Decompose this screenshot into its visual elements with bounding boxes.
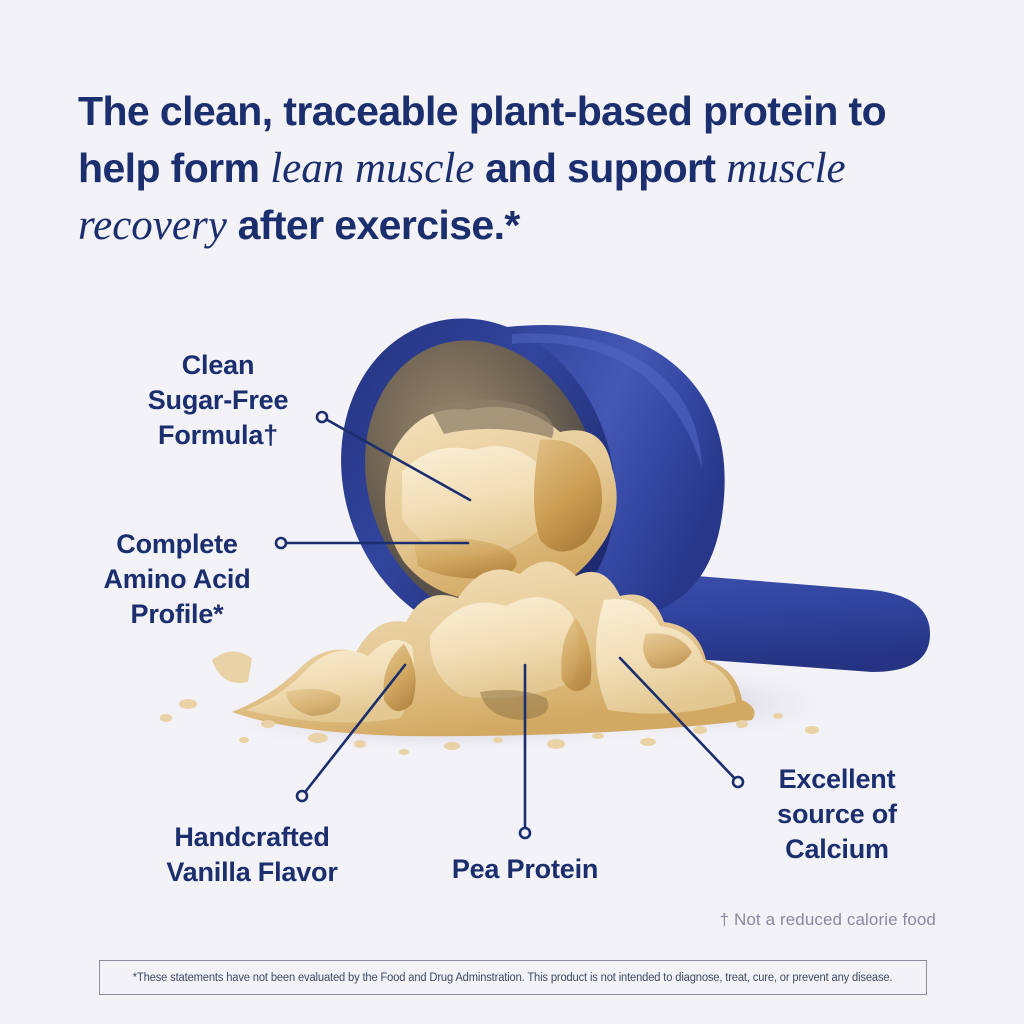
marker-excellent-source-of-calcium xyxy=(733,777,743,787)
infographic-canvas: The clean, traceable plant-based protein… xyxy=(0,0,1024,1024)
fda-disclaimer-text: *These statements have not been evaluate… xyxy=(133,972,893,984)
callout-label-pea-protein: Pea Protein xyxy=(430,852,620,887)
marker-clean-sugar-free-formula xyxy=(317,412,327,422)
callout-label-clean-sugar-free-formula: Clean Sugar-Free Formula† xyxy=(118,348,318,453)
callout-label-complete-amino-acid-profile: Complete Amino Acid Profile* xyxy=(82,527,272,632)
callout-label-handcrafted-vanilla-flavor: Handcrafted Vanilla Flavor xyxy=(132,820,372,890)
fda-disclaimer-box: *These statements have not been evaluate… xyxy=(99,960,927,995)
marker-complete-amino-acid-profile xyxy=(276,538,286,548)
marker-pea-protein xyxy=(520,828,530,838)
callout-label-excellent-source-of-calcium: Excellent source of Calcium xyxy=(757,762,917,867)
page-headline: The clean, traceable plant-based protein… xyxy=(78,83,958,254)
headline-part-3: after exercise.* xyxy=(227,202,520,248)
headline-emphasis-lean-muscle: lean muscle xyxy=(270,145,474,192)
dagger-footnote: † Not a reduced calorie food xyxy=(720,910,936,930)
marker-handcrafted-vanilla-flavor xyxy=(297,791,307,801)
headline-part-2: and support xyxy=(474,145,726,191)
